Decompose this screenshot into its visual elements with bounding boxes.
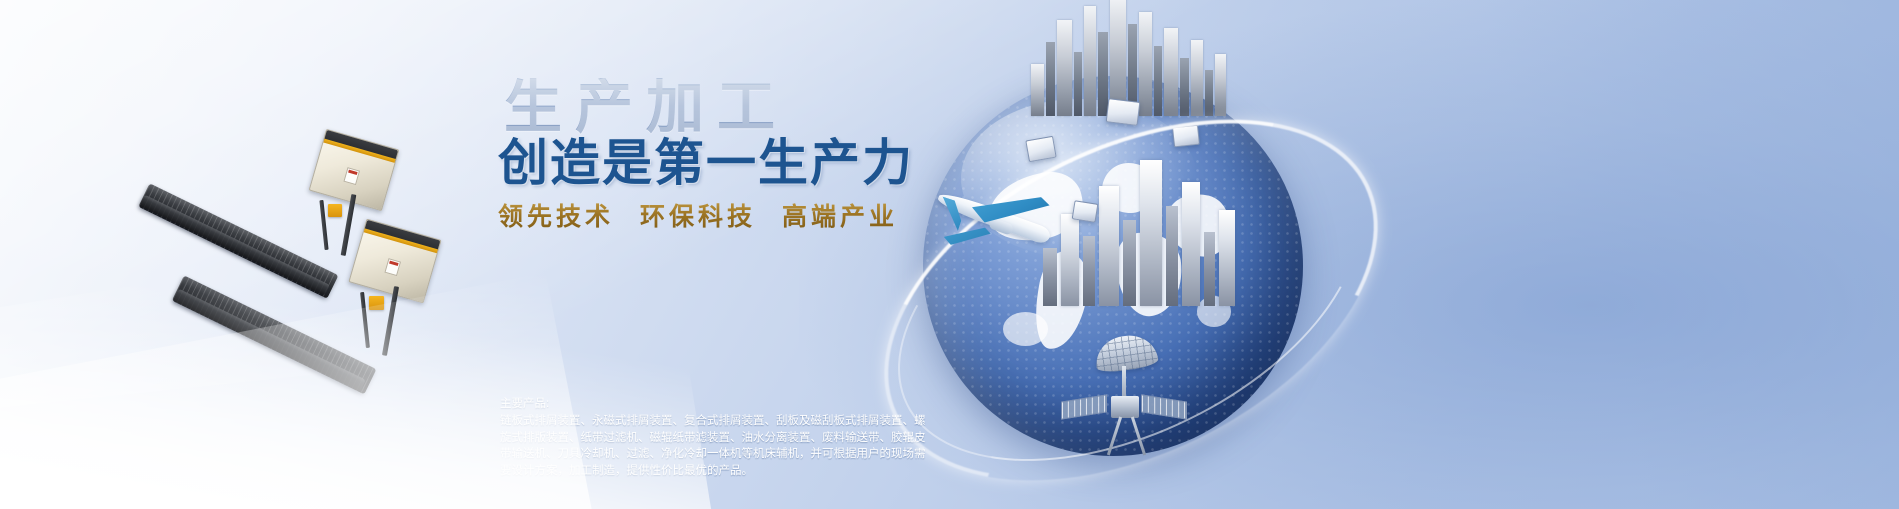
chip-conveyor-machines-illustration xyxy=(150,120,490,340)
floating-tablet-2 xyxy=(1106,98,1141,126)
tagline-item-3: 高端产业 xyxy=(782,203,898,231)
product-list-body: 链板式排屑装置、永磁式排屑装置、复合式排屑装置、刮板及磁刮板式排屑装置、螺旋式排… xyxy=(500,413,934,480)
tagline-row: 领先技术环保科技高端产业 xyxy=(498,197,968,233)
product-list-label: 主要产品: xyxy=(500,396,934,413)
satellite-icon xyxy=(1055,326,1205,476)
satellite-solar-panel-right xyxy=(1141,394,1187,419)
airplane-icon xyxy=(927,171,1067,281)
satellite-body xyxy=(1111,396,1139,418)
skyscraper-11 xyxy=(1164,28,1178,116)
skyscraper-5 xyxy=(1084,6,1096,116)
skyscraper-6 xyxy=(1098,32,1108,116)
promo-banner: 生产加工 创造是第一生产力 领先技术环保科技高端产业 主要产品: 链板式排屑装置… xyxy=(0,0,1899,509)
skyscraper-2 xyxy=(1046,42,1055,116)
warning-label-b xyxy=(384,258,401,276)
warning-label-a xyxy=(343,167,360,185)
city-skyline-top xyxy=(1025,0,1255,116)
product-description-block: 主要产品: 链板式排屑装置、永磁式排屑装置、复合式排屑装置、刮板及磁刮板式排屑装… xyxy=(500,396,934,480)
main-headline: 创造是第一生产力 xyxy=(498,135,968,191)
ghost-headline: 生产加工 xyxy=(504,78,968,139)
satellite-leg-left xyxy=(1107,417,1122,456)
skyscraper-9 xyxy=(1139,12,1152,116)
tagline-item-2: 环保科技 xyxy=(640,203,756,231)
control-box-a xyxy=(328,204,342,217)
skyscraper-13 xyxy=(1191,40,1203,116)
globe-illustration xyxy=(905,0,1465,509)
tagline-item-1: 领先技术 xyxy=(498,203,614,231)
floating-tablet-1 xyxy=(1025,136,1056,163)
skyscraper-3 xyxy=(1057,20,1072,116)
control-box-b xyxy=(369,296,384,310)
headline-text-block: 生产加工 创造是第一生产力 领先技术环保科技高端产业 xyxy=(498,78,968,233)
conveyor-belt-a-lower xyxy=(139,195,329,296)
satellite-dish-grid xyxy=(1093,332,1159,374)
support-leg-b1 xyxy=(382,286,399,356)
satellite-leg-right xyxy=(1131,417,1146,456)
satellite-mast xyxy=(1122,366,1126,400)
satellite-solar-panel-left xyxy=(1061,394,1107,419)
support-leg-a1 xyxy=(341,194,357,256)
conveyor-belt-b-lower xyxy=(173,289,366,392)
